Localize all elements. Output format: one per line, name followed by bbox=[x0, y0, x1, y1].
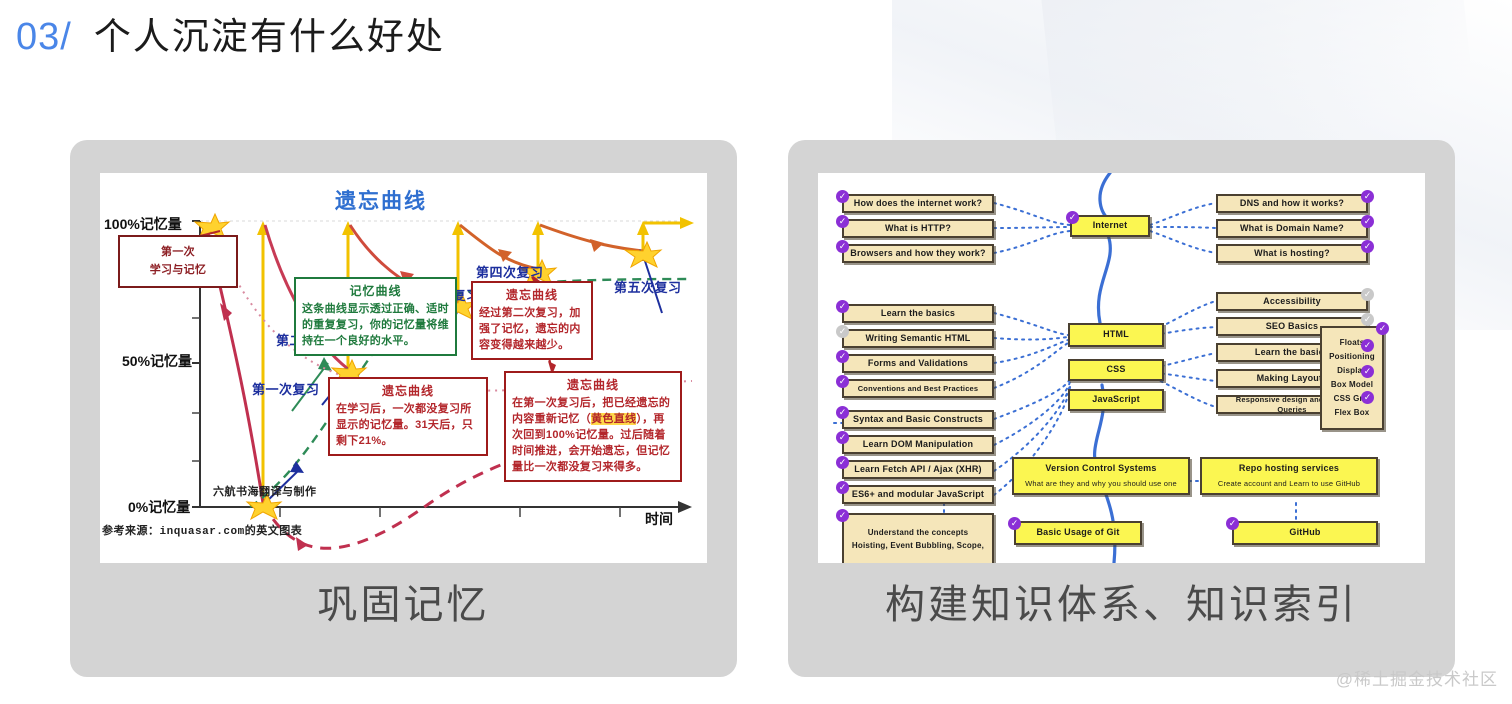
mindmap-node-fetch-api[interactable]: Learn Fetch API / Ajax (XHR) bbox=[842, 460, 994, 479]
note-memory-curve: 记忆曲线 这条曲线显示透过正确、适时的重复复习，你的记忆量将维持在一个良好的水平… bbox=[294, 277, 457, 356]
credit-translator: 六航书海翻译与制作 bbox=[213, 483, 317, 499]
mindmap-node-making-layouts-label: Making Layouts bbox=[1257, 373, 1328, 384]
note-forget-second-review: 遗忘曲线 经过第二次复习，加强了记忆，遗忘的内容变得越来越少。 bbox=[471, 281, 593, 360]
mindmap-node-domain-name[interactable]: What is Domain Name? bbox=[1216, 219, 1368, 238]
y-axis-label-100: 100%记忆量 bbox=[104, 214, 182, 234]
note-first-study-line1: 第一次 bbox=[161, 246, 195, 258]
check-icon-understand-concepts: ✓ bbox=[836, 509, 849, 522]
annotation-review-1: 第一次复习 bbox=[252, 379, 320, 398]
page-title: 个人沉淀有什么好处 bbox=[94, 6, 445, 60]
note-forget-no-review-body: 在学习后，一次都没复习所显示的记忆量。31天后，只剩下21%。 bbox=[336, 403, 473, 447]
mindmap-node-repo-hosting[interactable]: Repo hosting services Create account and… bbox=[1200, 457, 1378, 495]
mindmap-node-es6-modular[interactable]: ES6+ and modular JavaScript bbox=[842, 485, 994, 504]
check-icon-css-learn-basics: ✓ bbox=[1361, 339, 1374, 352]
mindmap-node-repo-hosting-sub: Create account and Learn to use GitHub bbox=[1218, 479, 1360, 488]
mindmap-node-semantic-html-label: Writing Semantic HTML bbox=[865, 333, 970, 344]
section-number: 03/ bbox=[16, 16, 72, 59]
mindmap-node-browsers[interactable]: Browsers and how they work? bbox=[842, 244, 994, 263]
mindmap-node-how-internet-works[interactable]: How does the internet work? bbox=[842, 194, 994, 213]
css-topic-positioning: Positioning bbox=[1329, 352, 1375, 362]
mindmap-node-what-is-http-label: What is HTTP? bbox=[885, 223, 951, 234]
css-topic-box-model: Box Model bbox=[1331, 380, 1373, 390]
mindmap-node-github-label: GitHub bbox=[1289, 527, 1320, 538]
note-memory-curve-body: 这条曲线显示透过正确、适时的重复复习，你的记忆量将维持在一个良好的水平。 bbox=[302, 303, 449, 347]
note-forget-no-review-title: 遗忘曲线 bbox=[336, 383, 480, 400]
check-icon-fetch-api: ✓ bbox=[836, 456, 849, 469]
x-axis-label: 时间 bbox=[645, 509, 673, 529]
mindmap-node-internet[interactable]: Internet bbox=[1070, 215, 1150, 237]
forgetting-curve-image: 遗忘曲线 100%记忆量 50%记忆量 0%记忆量 时间 六航书海翻译与制作 参… bbox=[100, 173, 707, 563]
slide-header: 03/ 个人沉淀有什么好处 bbox=[16, 6, 445, 60]
mindmap-node-css[interactable]: CSS bbox=[1068, 359, 1164, 381]
annotation-review-4: 第四次复习 bbox=[476, 262, 544, 281]
mindmap-node-javascript-label: JavaScript bbox=[1092, 394, 1140, 405]
check-icon-seo-basics: ✓ bbox=[1361, 313, 1374, 326]
css-topic-flex-box: Flex Box bbox=[1335, 408, 1370, 418]
mindmap-node-semantic-html[interactable]: Writing Semantic HTML bbox=[842, 329, 994, 348]
check-icon-internet: ✓ bbox=[1066, 211, 1079, 224]
check-icon-basic-git: ✓ bbox=[1008, 517, 1021, 530]
note-memory-curve-title: 记忆曲线 bbox=[302, 283, 449, 300]
check-icon-accessibility: ✓ bbox=[1361, 288, 1374, 301]
check-icon-domain-name: ✓ bbox=[1361, 215, 1374, 228]
y-axis-label-0: 0%记忆量 bbox=[128, 497, 190, 517]
mindmap-node-conventions-label: Conventions and Best Practices bbox=[858, 384, 979, 393]
mindmap-node-hosting-label: What is hosting? bbox=[1254, 248, 1330, 259]
mindmap-node-html-learn-basics-label: Learn the basics bbox=[881, 308, 955, 319]
mindmap-node-basic-git-label: Basic Usage of Git bbox=[1036, 527, 1119, 538]
mindmap-node-css-label: CSS bbox=[1106, 364, 1125, 375]
check-icon-es6-modular: ✓ bbox=[836, 481, 849, 494]
check-icon-html-learn-basics: ✓ bbox=[836, 300, 849, 313]
check-icon-github: ✓ bbox=[1226, 517, 1239, 530]
mindmap-node-dns[interactable]: DNS and how it works? bbox=[1216, 194, 1368, 213]
mindmap-node-html[interactable]: HTML bbox=[1068, 323, 1164, 347]
check-icon-dns: ✓ bbox=[1361, 190, 1374, 203]
mindmap-node-forms-validations[interactable]: Forms and Validations bbox=[842, 354, 994, 373]
mindmap-node-browsers-label: Browsers and how they work? bbox=[850, 248, 985, 259]
mindmap-node-version-control[interactable]: Version Control Systems What are they an… bbox=[1012, 457, 1190, 495]
mindmap-node-accessibility-label: Accessibility bbox=[1263, 296, 1321, 307]
mindmap-node-accessibility[interactable]: Accessibility bbox=[1216, 292, 1368, 311]
mindmap-node-css-learn-basics-label: Learn the basics bbox=[1255, 347, 1329, 358]
mindmap-node-hosting[interactable]: What is hosting? bbox=[1216, 244, 1368, 263]
note-first-study-line2: 学习与记忆 bbox=[150, 264, 207, 276]
mindmap-node-understand-concepts-line2: Hoisting, Event Bubbling, Scope, bbox=[852, 541, 984, 551]
check-icon-semantic-html: ✓ bbox=[836, 325, 849, 338]
card-consolidate-memory[interactable]: 遗忘曲线 100%记忆量 50%记忆量 0%记忆量 时间 六航书海翻译与制作 参… bbox=[70, 140, 737, 677]
mindmap: Internet ✓ HTML CSS JavaScript How does … bbox=[818, 173, 1425, 563]
watermark: @稀土掘金技术社区 bbox=[1336, 665, 1498, 690]
mindmap-node-es6-modular-label: ES6+ and modular JavaScript bbox=[852, 489, 984, 500]
check-icon-how-internet-works: ✓ bbox=[836, 190, 849, 203]
mindmap-node-forms-validations-label: Forms and Validations bbox=[868, 358, 968, 369]
check-icon-browsers: ✓ bbox=[836, 240, 849, 253]
mindmap-node-conventions[interactable]: Conventions and Best Practices bbox=[842, 379, 994, 398]
check-icon-what-is-http: ✓ bbox=[836, 215, 849, 228]
credit-source: 参考来源：inquasar.com的英文图表 bbox=[102, 522, 302, 538]
mindmap-node-version-control-sub: What are they and why you should use one bbox=[1025, 479, 1177, 488]
note-forget-second-title: 遗忘曲线 bbox=[479, 287, 585, 304]
card-knowledge-system[interactable]: Internet ✓ HTML CSS JavaScript How does … bbox=[788, 140, 1455, 677]
y-axis-label-50: 50%记忆量 bbox=[122, 351, 192, 371]
roadmap-mindmap-image: Internet ✓ HTML CSS JavaScript How does … bbox=[818, 173, 1425, 563]
note-forget-second-body: 经过第二次复习，加强了记忆，遗忘的内容变得越来越少。 bbox=[479, 307, 581, 351]
check-icon-conventions: ✓ bbox=[836, 375, 849, 388]
mindmap-node-dns-label: DNS and how it works? bbox=[1240, 198, 1344, 209]
mindmap-node-syntax-constructs-label: Syntax and Basic Constructs bbox=[853, 414, 983, 425]
mindmap-node-dom-manipulation-label: Learn DOM Manipulation bbox=[863, 439, 973, 450]
mindmap-node-fetch-api-label: Learn Fetch API / Ajax (XHR) bbox=[854, 464, 981, 475]
mindmap-node-repo-hosting-title: Repo hosting services bbox=[1239, 463, 1339, 474]
mindmap-node-github[interactable]: GitHub bbox=[1232, 521, 1378, 545]
card-caption-right: 构建知识体系、知识索引 bbox=[788, 572, 1455, 630]
card-caption-left: 巩固记忆 bbox=[70, 572, 737, 630]
mindmap-node-how-internet-works-label: How does the internet work? bbox=[854, 198, 982, 209]
check-icon-dom-manipulation: ✓ bbox=[836, 431, 849, 444]
mindmap-node-javascript[interactable]: JavaScript bbox=[1068, 389, 1164, 411]
check-icon-hosting: ✓ bbox=[1361, 240, 1374, 253]
note-forget-first-title: 遗忘曲线 bbox=[512, 377, 674, 394]
mindmap-node-internet-label: Internet bbox=[1093, 220, 1128, 231]
mindmap-node-dom-manipulation[interactable]: Learn DOM Manipulation bbox=[842, 435, 994, 454]
note-forget-no-review: 遗忘曲线 在学习后，一次都没复习所显示的记忆量。31天后，只剩下21%。 bbox=[328, 377, 488, 456]
mindmap-node-html-label: HTML bbox=[1103, 329, 1129, 340]
forgetting-curve-chart: 遗忘曲线 100%记忆量 50%记忆量 0%记忆量 时间 六航书海翻译与制作 参… bbox=[100, 173, 707, 563]
note-highlight-yellow-line: 黄色直线 bbox=[591, 413, 636, 425]
check-icon-syntax-constructs: ✓ bbox=[836, 406, 849, 419]
check-icon-making-layouts: ✓ bbox=[1361, 365, 1374, 378]
mindmap-node-syntax-constructs[interactable]: Syntax and Basic Constructs bbox=[842, 410, 994, 429]
mindmap-node-css-topics[interactable]: Floats Positioning Display Box Model CSS… bbox=[1320, 326, 1384, 430]
mindmap-node-html-learn-basics[interactable]: Learn the basics bbox=[842, 304, 994, 323]
mindmap-node-basic-git[interactable]: Basic Usage of Git bbox=[1014, 521, 1142, 545]
mindmap-node-seo-basics-label: SEO Basics bbox=[1266, 321, 1319, 332]
mindmap-node-domain-name-label: What is Domain Name? bbox=[1240, 223, 1344, 234]
mindmap-node-understand-concepts-line1: Understand the concepts bbox=[868, 528, 969, 538]
mindmap-node-what-is-http[interactable]: What is HTTP? bbox=[842, 219, 994, 238]
note-forget-first-review: 遗忘曲线 在第一次复习后，把已经遗忘的内容重新记忆（黄色直线），再次回到100%… bbox=[504, 371, 682, 482]
check-icon-forms-validations: ✓ bbox=[836, 350, 849, 363]
check-icon-css-topics: ✓ bbox=[1376, 322, 1389, 335]
note-first-study: 第一次 学习与记忆 bbox=[118, 235, 238, 288]
mindmap-node-version-control-title: Version Control Systems bbox=[1045, 463, 1156, 474]
check-icon-responsive-design: ✓ bbox=[1361, 391, 1374, 404]
chart-title: 遗忘曲线 bbox=[335, 185, 427, 215]
mindmap-node-understand-concepts[interactable]: Understand the concepts Hoisting, Event … bbox=[842, 513, 994, 563]
annotation-review-5: 第五次复习 bbox=[614, 277, 682, 296]
